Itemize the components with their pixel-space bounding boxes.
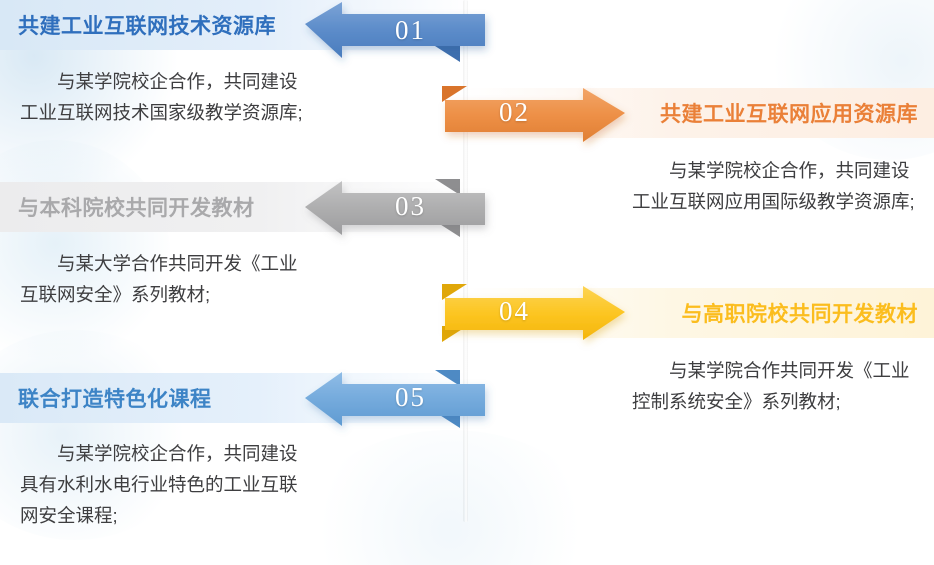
step-arrow-05[interactable]: 05 <box>300 364 490 432</box>
step-body-02: 与某学院校企合作，共同建设工业互联网应用国际级教学资源库; <box>632 155 924 217</box>
step-title-04: 与高职院校共同开发教材 <box>682 298 919 328</box>
step-title-03: 与本科院校共同开发教材 <box>18 192 255 222</box>
arrow-left-icon <box>300 0 490 62</box>
step-arrow-03[interactable]: 03 <box>300 173 490 241</box>
step-title-01: 共建工业互联网技术资源库 <box>18 10 276 40</box>
step-title-05: 联合打造特色化课程 <box>18 383 212 413</box>
arrow-left-icon <box>300 364 490 432</box>
step-body-01: 与某学院校企合作，共同建设工业互联网技术国家级教学资源库; <box>20 66 305 128</box>
arrow-right-icon <box>437 278 632 346</box>
step-body-03: 与某大学合作共同开发《工业互联网安全》系列教材; <box>20 248 305 310</box>
step-arrow-02[interactable]: 02 <box>437 80 632 146</box>
arrow-left-icon <box>300 173 490 241</box>
diagram-canvas: 共建工业互联网技术资源库 01 与某学院校企合作，共同建设工业互联网技术国家级教… <box>0 0 934 565</box>
timeline-spine <box>463 0 468 522</box>
step-arrow-04[interactable]: 04 <box>437 278 632 346</box>
background-watermark-blob <box>300 430 600 565</box>
step-body-05: 与某学院校企合作，共同建设具有水利水电行业特色的工业互联网安全课程; <box>20 438 305 531</box>
step-body-04: 与某学院合作共同开发《工业控制系统安全》系列教材; <box>632 355 924 417</box>
step-arrow-01[interactable]: 01 <box>300 0 490 62</box>
step-title-02: 共建工业互联网应用资源库 <box>660 98 918 128</box>
arrow-right-icon <box>437 80 632 146</box>
